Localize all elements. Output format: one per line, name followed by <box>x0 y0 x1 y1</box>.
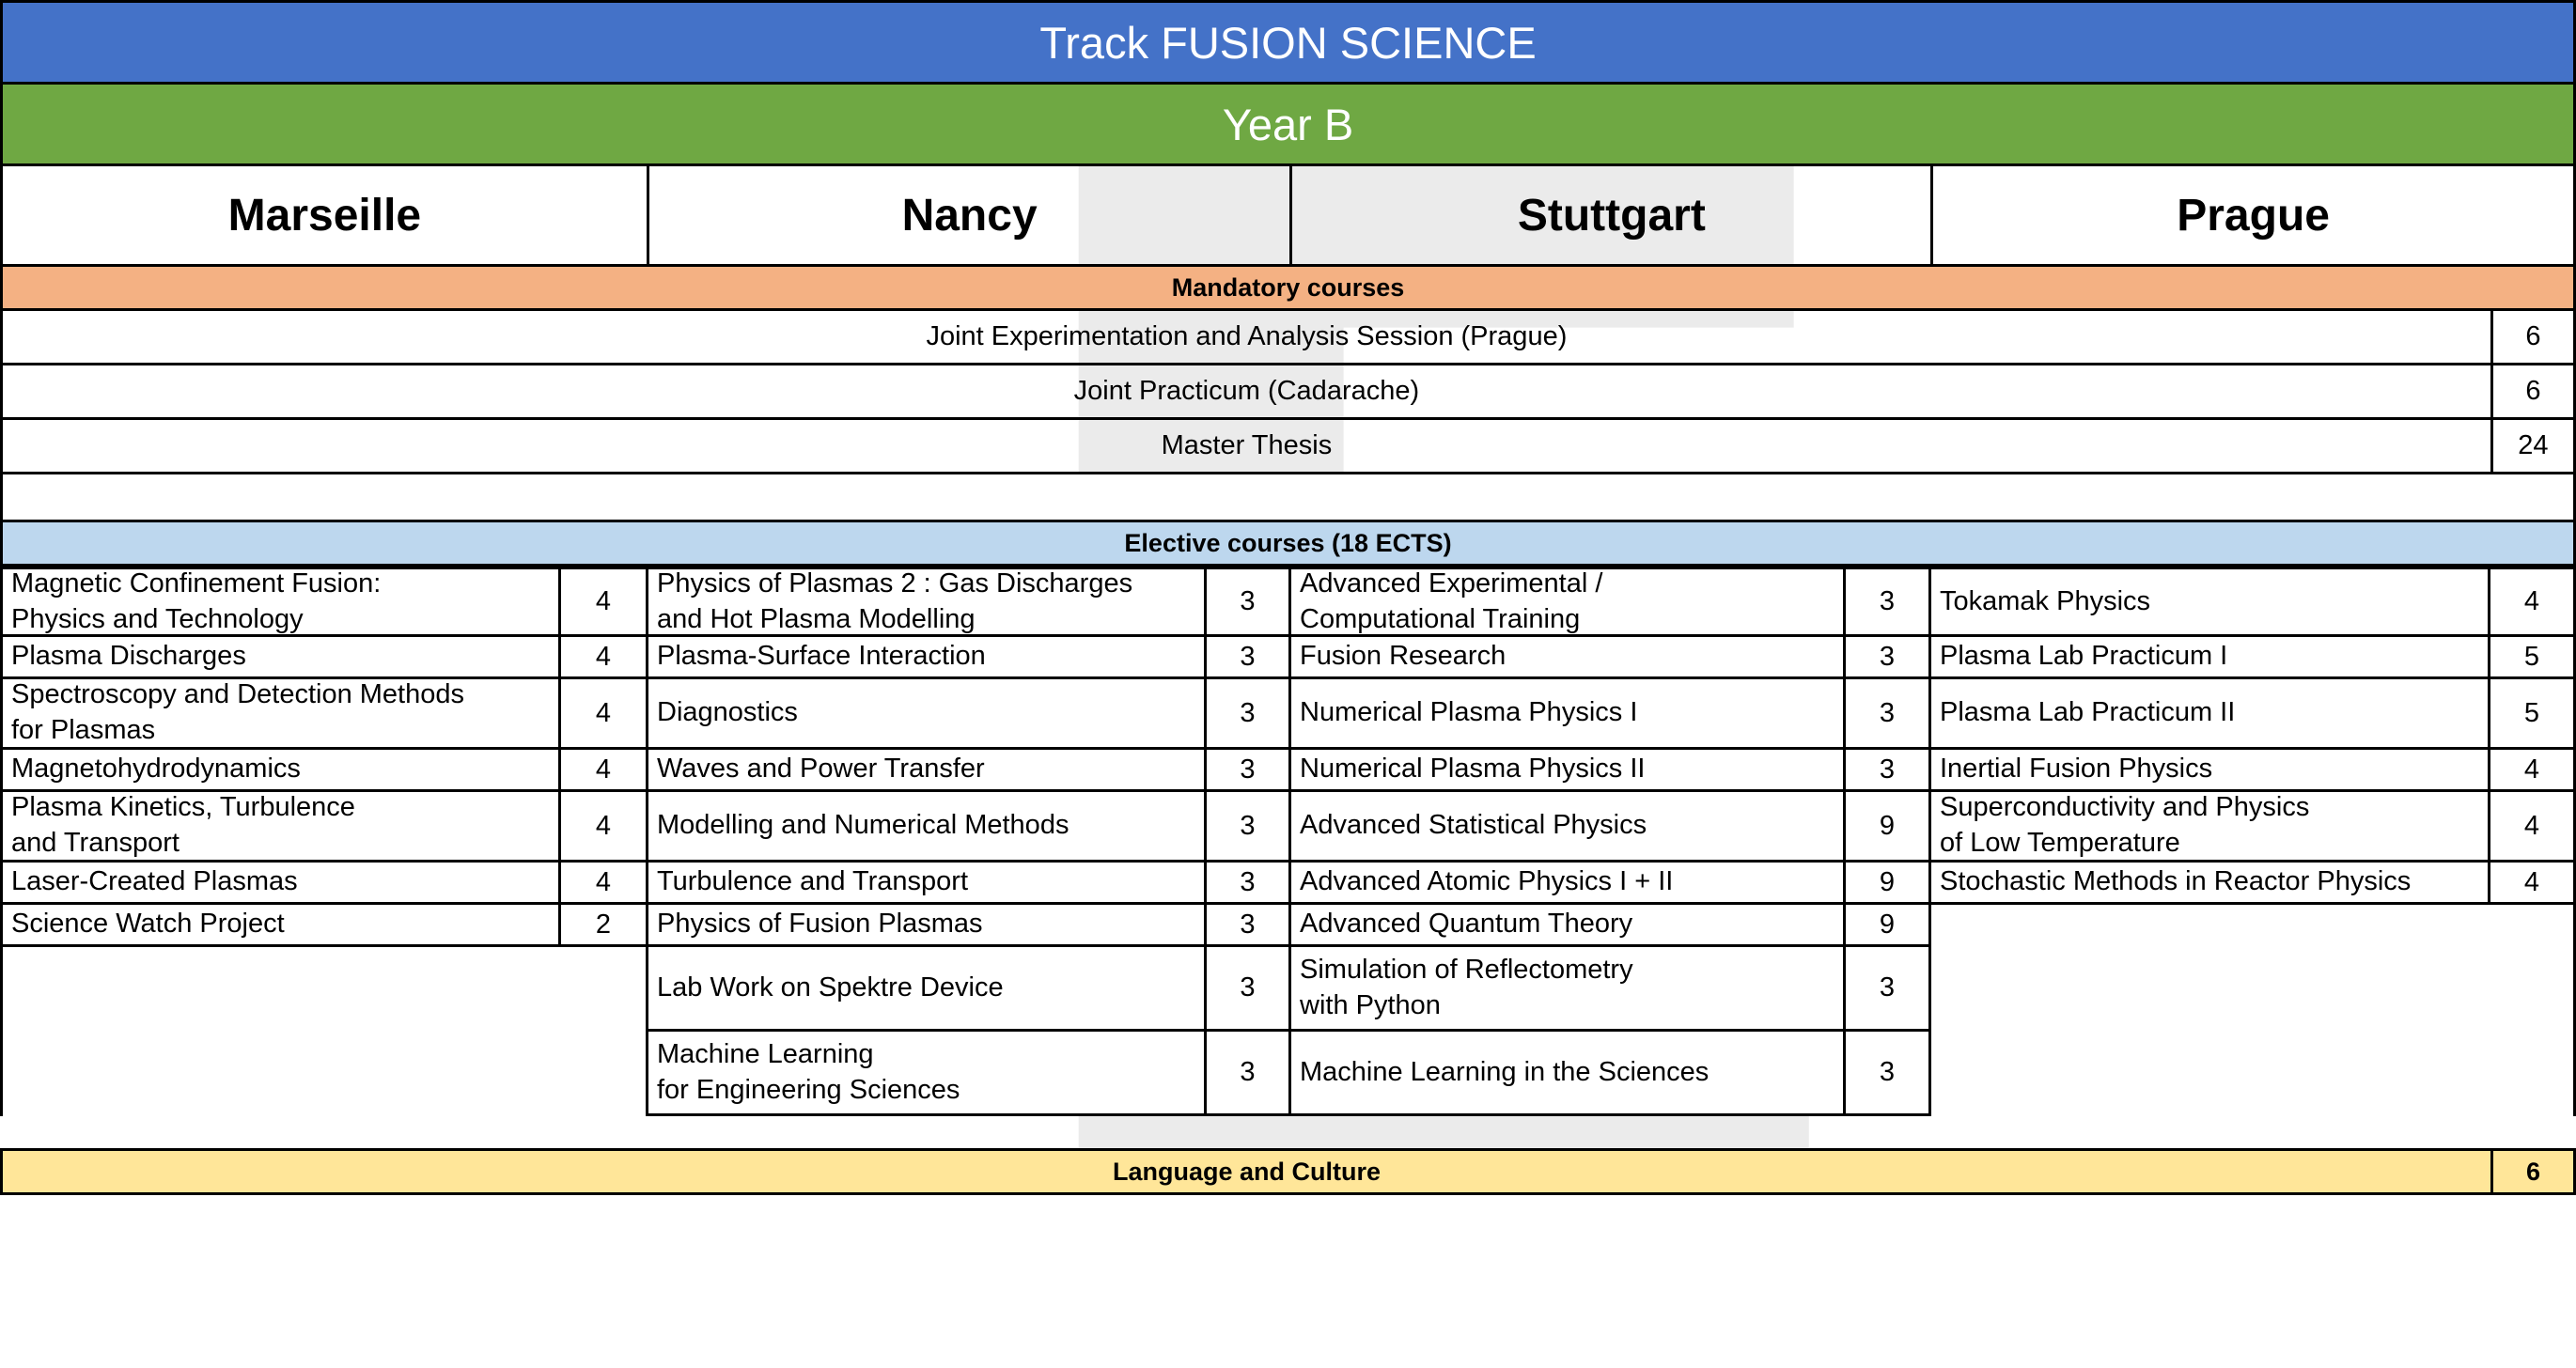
top-grid: Track FUSION SCIENCE Year B Marseille Na… <box>0 0 2576 567</box>
course-row[interactable]: Superconductivity and Physics of Low Tem… <box>1931 792 2573 863</box>
language-culture-label: Language and Culture <box>2 1150 2492 1194</box>
elective-band-label: Elective courses (18 ECTS) <box>2 521 2575 566</box>
course-ects: 3 <box>1207 750 1288 789</box>
course-row[interactable]: Machine Learning in the Sciences 3 <box>1291 1032 1931 1116</box>
course-ects: 3 <box>1207 679 1288 747</box>
footer-gap-row <box>2 1116 2575 1150</box>
course-row[interactable]: Waves and Power Transfer 3 <box>648 750 1291 792</box>
track-title-row: Track FUSION SCIENCE <box>2 2 2575 84</box>
course-row[interactable]: Plasma Lab Practicum I 5 <box>1931 637 2573 679</box>
course-ects: 4 <box>2490 750 2573 789</box>
course-row[interactable]: Spectroscopy and Detection Methods for P… <box>3 679 648 750</box>
elective-columns: Magnetic Confinement Fusion: Physics and… <box>0 567 2576 1116</box>
course-name: Superconductivity and Physics of Low Tem… <box>1931 792 2490 860</box>
course-row[interactable]: Modelling and Numerical Methods 3 <box>648 792 1291 863</box>
course-ects: 3 <box>1846 750 1928 789</box>
course-name: Plasma Lab Practicum II <box>1931 679 2490 747</box>
course-ects: 3 <box>1207 792 1288 860</box>
course-row[interactable]: Magnetic Confinement Fusion: Physics and… <box>3 567 648 637</box>
course-name: Turbulence and Transport <box>648 863 1207 902</box>
course-row[interactable]: Diagnostics 3 <box>648 679 1291 750</box>
year-row: Year B <box>2 84 2575 165</box>
elective-column-prague: Tokamak Physics 4 Plasma Lab Practicum I… <box>1931 567 2573 1116</box>
course-row[interactable]: Advanced Statistical Physics 9 <box>1291 792 1931 863</box>
course-name: Simulation of Reflectometry with Python <box>1291 947 1846 1029</box>
mandatory-course-ects: 24 <box>2491 419 2574 474</box>
course-name: Laser-Created Plasmas <box>3 863 561 902</box>
course-row[interactable]: Fusion Research 3 <box>1291 637 1931 679</box>
course-name: Tokamak Physics <box>1931 569 2490 634</box>
course-row[interactable]: Numerical Plasma Physics I 3 <box>1291 679 1931 750</box>
footer-grid: Language and Culture 6 <box>0 1116 2576 1195</box>
course-row[interactable]: Plasma Kinetics, Turbulence and Transpor… <box>3 792 648 863</box>
course-ects: 4 <box>2490 569 2573 634</box>
course-name: Stochastic Methods in Reactor Physics <box>1931 863 2490 902</box>
track-title: Track FUSION SCIENCE <box>2 2 2575 84</box>
mandatory-course-ects: 6 <box>2491 310 2574 365</box>
course-name: Advanced Statistical Physics <box>1291 792 1846 860</box>
course-ects: 2 <box>561 905 646 944</box>
course-name: Plasma Lab Practicum I <box>1931 637 2490 676</box>
course-ects: 3 <box>1207 1032 1288 1113</box>
course-name: Modelling and Numerical Methods <box>648 792 1207 860</box>
course-ects: 4 <box>561 569 646 634</box>
course-name: Numerical Plasma Physics I <box>1291 679 1846 747</box>
course-name: Spectroscopy and Detection Methods for P… <box>3 679 561 747</box>
mandatory-row-2: Joint Practicum (Cadarache) 6 <box>2 365 2575 419</box>
course-ects: 3 <box>1207 637 1288 676</box>
course-ects: 3 <box>1846 947 1928 1029</box>
elective-column-nancy: Physics of Plasmas 2 : Gas Discharges an… <box>648 567 1291 1116</box>
course-row[interactable]: Turbulence and Transport 3 <box>648 863 1291 905</box>
course-ects: 4 <box>561 792 646 860</box>
course-row[interactable]: Advanced Quantum Theory 9 <box>1291 905 1931 947</box>
course-name: Inertial Fusion Physics <box>1931 750 2490 789</box>
course-ects: 3 <box>1207 569 1288 634</box>
mandatory-row-1: Joint Experimentation and Analysis Sessi… <box>2 310 2575 365</box>
column-filler <box>3 947 648 1116</box>
course-ects: 5 <box>2490 679 2573 747</box>
mandatory-course-name: Master Thesis <box>2 419 2492 474</box>
city-header-stuttgart: Stuttgart <box>1291 165 1932 266</box>
course-ects: 4 <box>561 679 646 747</box>
course-name: Plasma Kinetics, Turbulence and Transpor… <box>3 792 561 860</box>
course-name: Physics of Fusion Plasmas <box>648 905 1207 944</box>
city-header-marseille: Marseille <box>2 165 648 266</box>
mandatory-band-label: Mandatory courses <box>2 266 2575 310</box>
mandatory-course-ects: 6 <box>2491 365 2574 419</box>
spacer-cell <box>2 474 2575 521</box>
course-row[interactable]: Advanced Atomic Physics I + II 9 <box>1291 863 1931 905</box>
elective-band-row: Elective courses (18 ECTS) <box>2 521 2575 566</box>
course-ects: 4 <box>561 637 646 676</box>
course-name: Advanced Experimental / Computational Tr… <box>1291 569 1846 634</box>
elective-column-marseille: Magnetic Confinement Fusion: Physics and… <box>3 567 648 1116</box>
course-ects: 3 <box>1846 569 1928 634</box>
language-culture-ects: 6 <box>2492 1150 2575 1194</box>
course-ects: 3 <box>1207 947 1288 1029</box>
course-name: Plasma Discharges <box>3 637 561 676</box>
course-name: Advanced Quantum Theory <box>1291 905 1846 944</box>
course-name: Fusion Research <box>1291 637 1846 676</box>
course-row[interactable]: Lab Work on Spektre Device 3 <box>648 947 1291 1032</box>
course-name: Plasma-Surface Interaction <box>648 637 1207 676</box>
course-ects: 5 <box>2490 637 2573 676</box>
course-name: Physics of Plasmas 2 : Gas Discharges an… <box>648 569 1207 634</box>
course-name: Machine Learning in the Sciences <box>1291 1032 1846 1113</box>
mandatory-band-row: Mandatory courses <box>2 266 2575 310</box>
year-label: Year B <box>2 84 2575 165</box>
course-ects: 4 <box>2490 863 2573 902</box>
city-header-prague: Prague <box>1932 165 2575 266</box>
mandatory-course-name: Joint Experimentation and Analysis Sessi… <box>2 310 2492 365</box>
course-name: Science Watch Project <box>3 905 561 944</box>
course-row[interactable]: Plasma Lab Practicum II 5 <box>1931 679 2573 750</box>
course-name: Diagnostics <box>648 679 1207 747</box>
column-filler <box>1931 905 2573 1074</box>
course-name: Lab Work on Spektre Device <box>648 947 1207 1029</box>
course-name: Numerical Plasma Physics II <box>1291 750 1846 789</box>
course-name: Magnetic Confinement Fusion: Physics and… <box>3 569 561 634</box>
city-header-nancy: Nancy <box>648 165 1291 266</box>
course-ects: 3 <box>1846 637 1928 676</box>
course-row[interactable]: Advanced Experimental / Computational Tr… <box>1291 567 1931 637</box>
elective-column-stuttgart: Advanced Experimental / Computational Tr… <box>1291 567 1931 1116</box>
course-ects: 3 <box>1207 905 1288 944</box>
mandatory-course-name: Joint Practicum (Cadarache) <box>2 365 2492 419</box>
mandatory-row-3: Master Thesis 24 <box>2 419 2575 474</box>
course-row[interactable]: Numerical Plasma Physics II 3 <box>1291 750 1931 792</box>
course-row[interactable]: Inertial Fusion Physics 4 <box>1931 750 2573 792</box>
course-ects: 4 <box>561 863 646 902</box>
course-row[interactable]: Science Watch Project 2 <box>3 905 648 947</box>
course-name: Magnetohydrodynamics <box>3 750 561 789</box>
course-ects: 4 <box>2490 792 2573 860</box>
footer-row: Language and Culture 6 <box>2 1150 2575 1194</box>
course-name: Machine Learning for Engineering Science… <box>648 1032 1207 1113</box>
footer-gap-cell <box>2 1116 2575 1150</box>
course-ects: 3 <box>1846 679 1928 747</box>
course-row[interactable]: Physics of Fusion Plasmas 3 <box>648 905 1291 947</box>
course-row[interactable]: Tokamak Physics 4 <box>1931 567 2573 637</box>
course-row[interactable]: Machine Learning for Engineering Science… <box>648 1032 1291 1116</box>
course-ects: 9 <box>1846 792 1928 860</box>
course-ects: 4 <box>561 750 646 789</box>
course-row[interactable]: Simulation of Reflectometry with Python … <box>1291 947 1931 1032</box>
city-header-row: Marseille Nancy Stuttgart Prague <box>2 165 2575 266</box>
course-row[interactable]: Stochastic Methods in Reactor Physics 4 <box>1931 863 2573 905</box>
course-row[interactable]: Plasma-Surface Interaction 3 <box>648 637 1291 679</box>
mandatory-spacer-row <box>2 474 2575 521</box>
course-name: Waves and Power Transfer <box>648 750 1207 789</box>
course-name: Advanced Atomic Physics I + II <box>1291 863 1846 902</box>
course-ects: 9 <box>1846 863 1928 902</box>
course-row[interactable]: Magnetohydrodynamics 4 <box>3 750 648 792</box>
course-row[interactable]: Physics of Plasmas 2 : Gas Discharges an… <box>648 567 1291 637</box>
course-row[interactable]: Plasma Discharges 4 <box>3 637 648 679</box>
course-ects: 9 <box>1846 905 1928 944</box>
course-row[interactable]: Laser-Created Plasmas 4 <box>3 863 648 905</box>
course-ects: 3 <box>1207 863 1288 902</box>
course-ects: 3 <box>1846 1032 1928 1113</box>
curriculum-table-sheet: E Track FUSION SCIENCE Year B Marseille … <box>0 0 2576 1368</box>
